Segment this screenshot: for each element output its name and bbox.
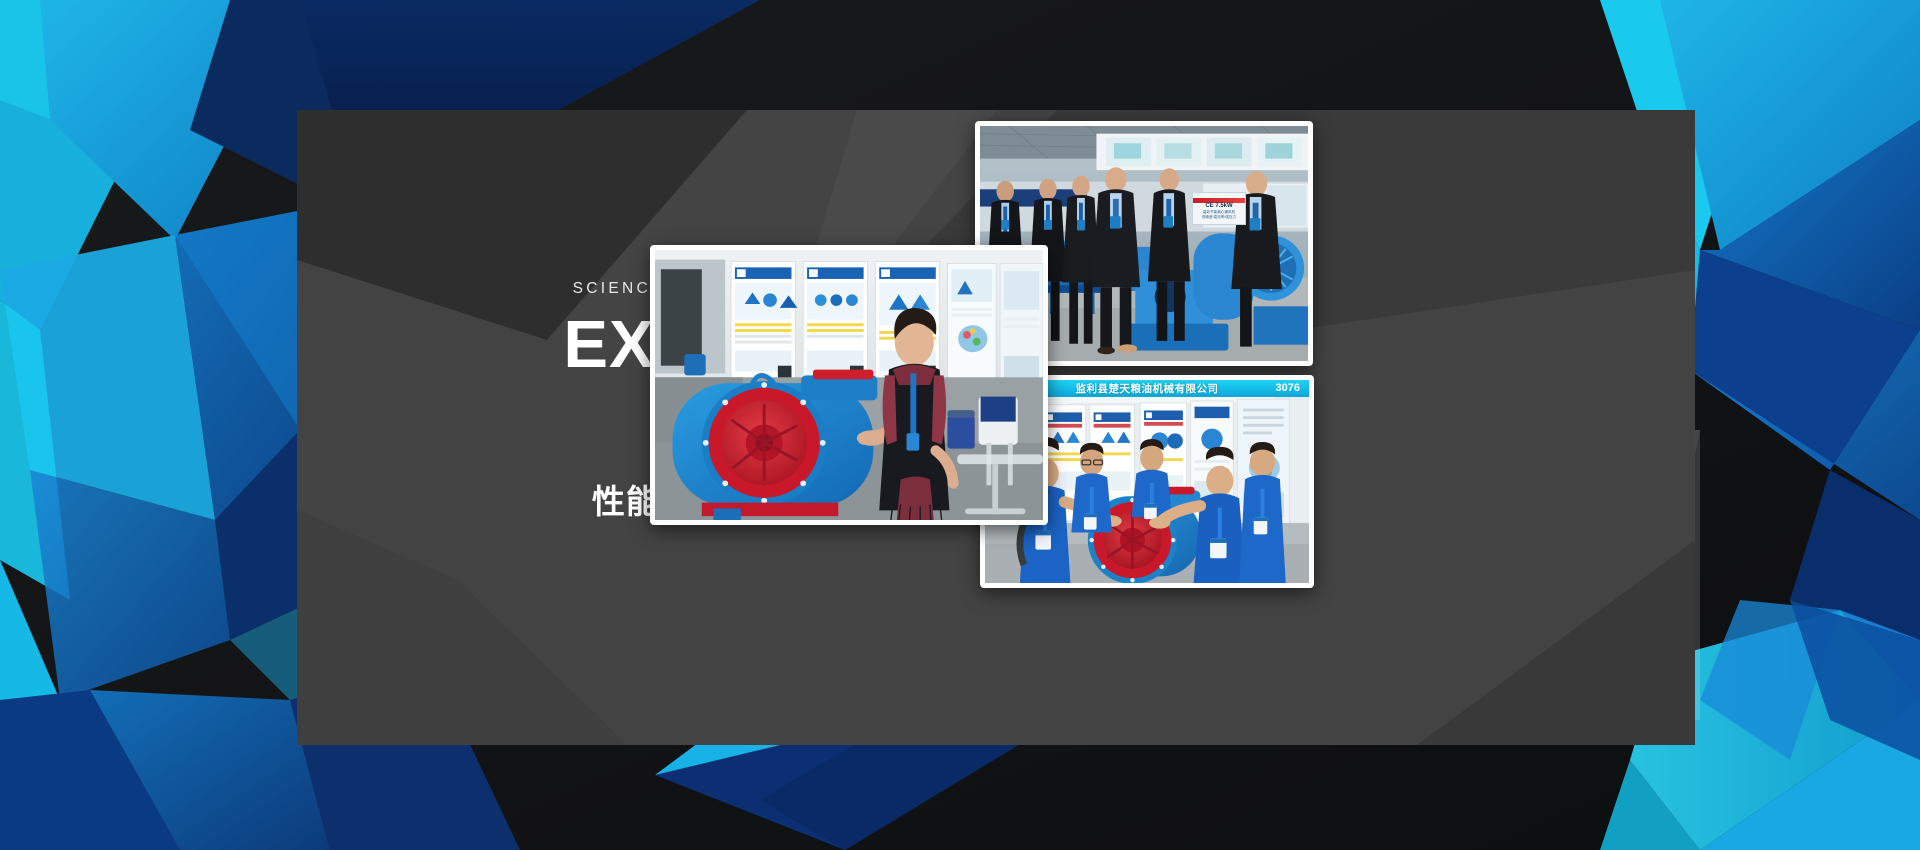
booth-company-name: 监利县楚天粮油机械有限公司 (1076, 381, 1219, 396)
hero-banner: SCIENCE AND TECHNOLOGY LEADING EXCELLENT… (0, 0, 1920, 850)
ce-product-sign: CE 7.5kW 高效节能离心通风机 低噪音/高效率/强压力 (1192, 192, 1246, 225)
photo-female-presenter (650, 245, 1048, 525)
booth-number: 3076 (1276, 382, 1300, 394)
photo-female-presenter-image (655, 250, 1043, 520)
ce-sign-line-sub: 低噪音/高效率/强压力 (1202, 215, 1236, 219)
